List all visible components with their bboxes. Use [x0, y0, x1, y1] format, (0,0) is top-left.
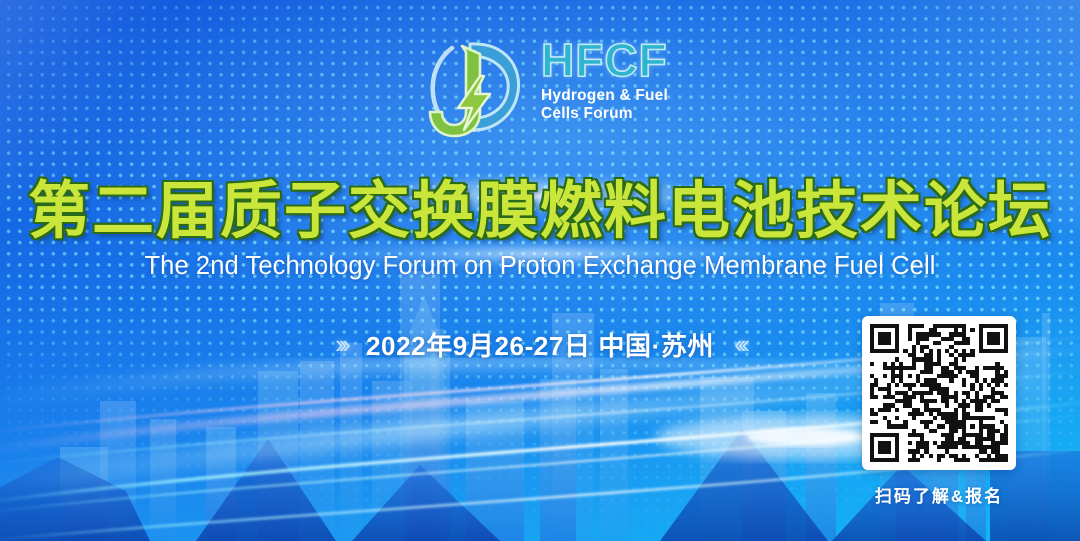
- qr-code[interactable]: [862, 316, 1016, 470]
- hfcf-tagline: Hydrogen & Fuel Cells Forum: [541, 87, 668, 124]
- event-headline-chinese: 第二届质子交换膜燃料电池技术论坛: [0, 160, 1080, 250]
- hfcf-wordmark: HFCF: [541, 37, 668, 83]
- triple-chevron-left-icon: ‹‹‹: [734, 329, 745, 360]
- event-date-location-text: 2022年9月26-27日 中国·苏州: [366, 326, 714, 363]
- hfcf-logo-mark: [418, 32, 536, 144]
- hfcf-wordmark-group: HFCF Hydrogen & Fuel Cells Forum: [541, 37, 668, 124]
- qr-code-matrix: [870, 324, 1008, 462]
- event-subtitle-english: The 2nd Technology Forum on Proton Excha…: [0, 252, 1080, 281]
- qr-caption: 扫码了解&报名: [862, 482, 1016, 507]
- hfcf-tagline-line2: Cells Forum: [541, 105, 668, 123]
- hfcf-tagline-line1: Hydrogen & Fuel: [541, 87, 668, 105]
- event-banner: HFCF Hydrogen & Fuel Cells Forum 第二届质子交换…: [0, 0, 1080, 541]
- hfcf-logo: HFCF Hydrogen & Fuel Cells Forum: [418, 32, 686, 144]
- qr-block[interactable]: 扫码了解&报名: [862, 316, 1016, 507]
- triple-chevron-right-icon: ›››: [335, 329, 346, 360]
